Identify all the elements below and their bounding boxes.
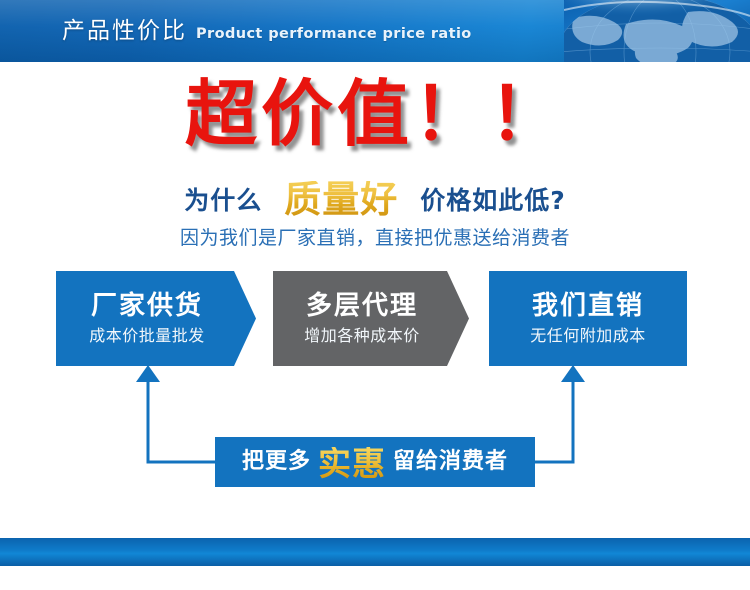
question-part-why: 为什么 <box>184 188 262 213</box>
arrow-up-icon <box>561 365 585 382</box>
flow-box-subtitle: 增加各种成本价 <box>304 328 420 344</box>
header-title-cn: 产品性价比 <box>62 20 187 43</box>
header-title-en: Product performance price ratio <box>196 27 472 42</box>
flow-box-direct-sales: 我们直销 无任何附加成本 <box>489 271 687 366</box>
globe-icon <box>564 0 750 62</box>
promo-banner-page: 产品性价比 Product performance price ratio 超价… <box>0 0 750 590</box>
question-part-quality: 质量好 <box>284 181 398 218</box>
question-line: 为什么 质量好 价格如此低? <box>0 178 750 215</box>
flow-box-factory-supply: 厂家供货 成本价批量批发 <box>56 271 256 366</box>
banner-part-more: 把更多 <box>242 451 311 473</box>
flow-box-subtitle: 无任何附加成本 <box>530 328 646 344</box>
flow-diagram: 厂家供货 成本价批量批发 多层代理 增加各种成本价 我们直销 无任何附加成本 <box>0 271 750 366</box>
explanation-text: 因为我们是厂家直销，直接把优惠送给消费者 <box>0 226 750 251</box>
header-title-group: 产品性价比 Product performance price ratio <box>62 0 472 62</box>
banner-part-benefit: 实惠 <box>315 447 389 480</box>
flow-box-title: 多层代理 <box>306 293 418 319</box>
question-part-price: 价格如此低? <box>420 188 566 213</box>
flow-box-multi-agent: 多层代理 增加各种成本价 <box>273 271 469 366</box>
banner-part-consumer: 留给消费者 <box>393 451 508 473</box>
headline-text: 超价值！！ <box>0 78 750 150</box>
arrow-up-icon <box>136 365 160 382</box>
page-header: 产品性价比 Product performance price ratio <box>0 0 750 62</box>
flow-box-title: 我们直销 <box>532 293 644 319</box>
footer-bar <box>0 538 750 566</box>
bottom-banner: 把更多 实惠 留给消费者 <box>215 437 535 487</box>
flow-box-title: 厂家供货 <box>91 293 203 319</box>
flow-box-subtitle: 成本价批量批发 <box>89 328 205 344</box>
